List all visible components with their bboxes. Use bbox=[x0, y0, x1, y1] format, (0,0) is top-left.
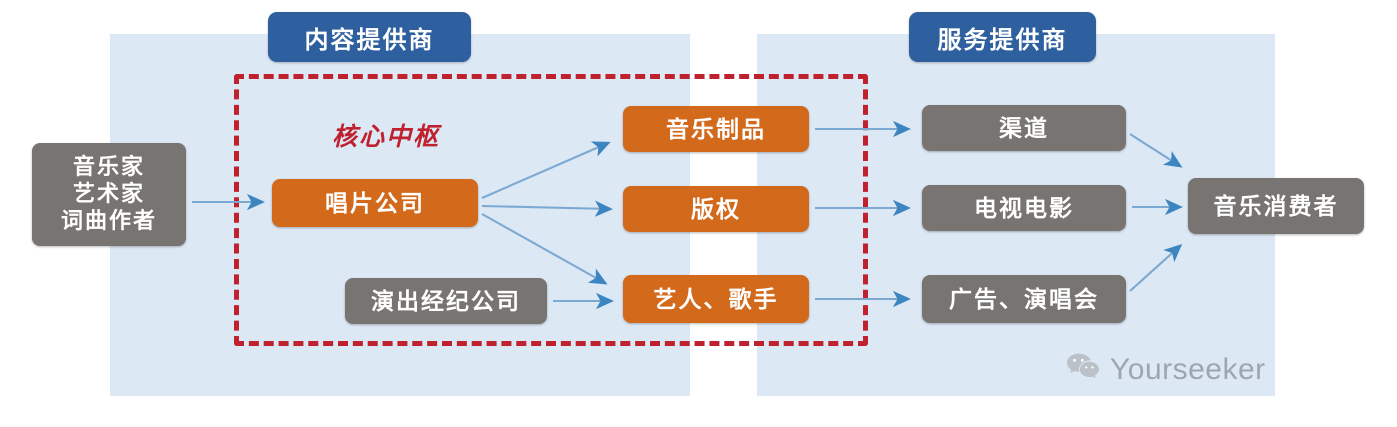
watermark-text: Yourseeker bbox=[1110, 353, 1266, 387]
diagram-canvas: 内容提供商 服务提供商 音乐家 艺术家 词曲作者 核心中枢 唱片公司 演出经纪公… bbox=[0, 0, 1397, 427]
node-record-company: 唱片公司 bbox=[272, 179, 478, 227]
node-creators: 音乐家 艺术家 词曲作者 bbox=[32, 143, 186, 246]
node-music-consumers: 音乐消费者 bbox=[1188, 178, 1364, 234]
header-content-provider: 内容提供商 bbox=[268, 12, 471, 62]
node-tv-film: 电视电影 bbox=[922, 185, 1126, 231]
node-creators-line-2: 艺术家 bbox=[73, 181, 145, 208]
wechat-icon bbox=[1066, 352, 1100, 388]
node-creators-line-1: 音乐家 bbox=[73, 154, 145, 181]
node-music-products: 音乐制品 bbox=[623, 106, 809, 152]
header-service-provider: 服务提供商 bbox=[909, 12, 1096, 62]
node-channel: 渠道 bbox=[922, 105, 1126, 151]
node-copyright: 版权 bbox=[623, 186, 809, 232]
node-performance-agency: 演出经纪公司 bbox=[345, 278, 547, 324]
label-core-hub: 核心中枢 bbox=[296, 118, 476, 152]
watermark: Yourseeker bbox=[1066, 352, 1266, 388]
node-ads-concerts: 广告、演唱会 bbox=[922, 275, 1126, 323]
node-artists-singers: 艺人、歌手 bbox=[623, 275, 809, 323]
node-creators-line-3: 词曲作者 bbox=[61, 208, 157, 235]
